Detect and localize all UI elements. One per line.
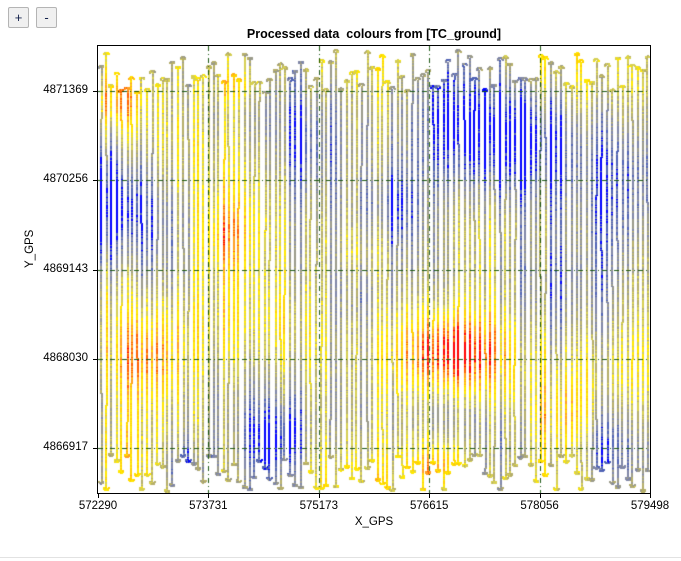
x-tick-label: 575173: [274, 500, 364, 512]
x-axis-label: X_GPS: [97, 516, 651, 528]
x-tick-label: 573731: [163, 500, 253, 512]
x-tick-mark: [540, 493, 541, 498]
x-tick-mark: [208, 493, 209, 498]
x-tick-label: 578056: [495, 500, 585, 512]
scatter-points-canvas: [98, 46, 650, 493]
y-tick-label: 4868030: [0, 352, 88, 364]
y-tick-label: 4869143: [0, 263, 88, 275]
y-tick-label: 4871369: [0, 84, 88, 96]
scatter-figure: Processed data colours from [TC_ground] …: [0, 0, 681, 545]
x-tick-mark: [650, 493, 651, 498]
plot-area[interactable]: [97, 45, 651, 494]
y-tick-mark: [93, 448, 98, 449]
x-tick-label: 579498: [605, 500, 681, 512]
x-tick-label: 572290: [53, 500, 143, 512]
y-tick-mark: [93, 270, 98, 271]
y-tick-mark: [93, 180, 98, 181]
y-tick-label: 4866917: [0, 441, 88, 453]
x-tick-mark: [98, 493, 99, 498]
y-tick-label: 4870256: [0, 173, 88, 185]
x-tick-mark: [429, 493, 430, 498]
status-divider: [0, 557, 681, 558]
x-tick-label: 576615: [384, 500, 474, 512]
plot-title: Processed data colours from [TC_ground]: [97, 27, 651, 41]
y-tick-mark: [93, 359, 98, 360]
x-tick-mark: [319, 493, 320, 498]
plot-window: + - Processed data colours from [TC_grou…: [0, 0, 681, 561]
y-tick-mark: [93, 91, 98, 92]
